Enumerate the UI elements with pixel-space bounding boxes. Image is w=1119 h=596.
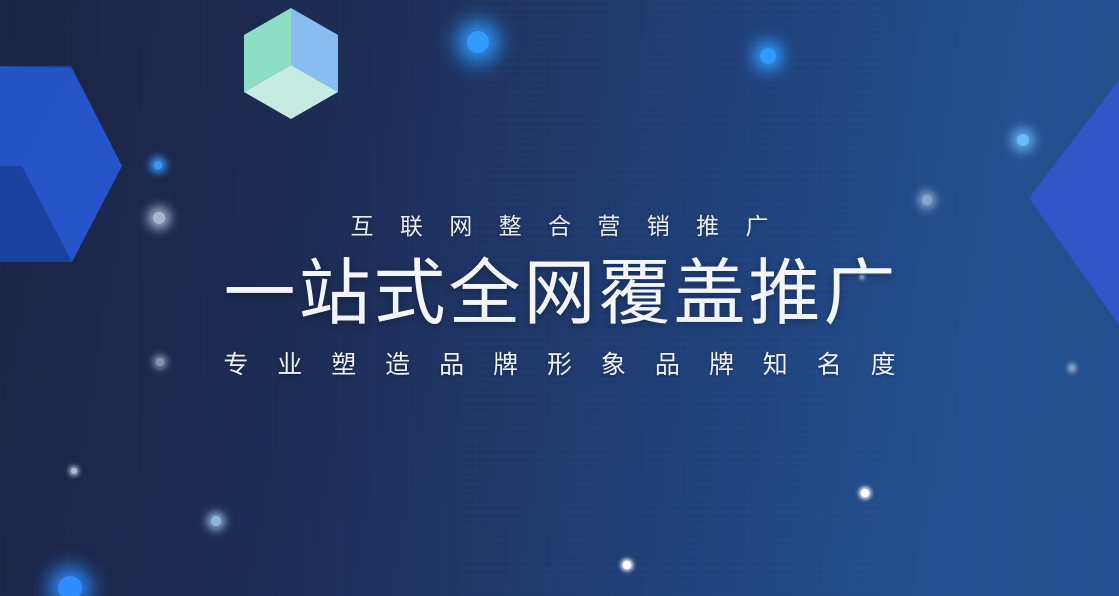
glow-dot (1017, 134, 1029, 146)
glow-dot (467, 31, 489, 53)
glow-dot (154, 161, 162, 169)
glow-dot (71, 468, 77, 474)
glow-dot (760, 48, 776, 64)
glow-dot (211, 516, 221, 526)
banner-text-block: 互 联 网 整 合 营 销 推 广 一站式全网覆盖推广 专 业 塑 造 品 牌 … (0, 212, 1119, 381)
hero-banner: 互 联 网 整 合 营 销 推 广 一站式全网覆盖推广 专 业 塑 造 品 牌 … (0, 0, 1119, 596)
left-hexagon-upper-face (0, 66, 72, 166)
banner-subline-text: 专 业 塑 造 品 牌 形 象 品 牌 知 名 度 (0, 349, 1119, 382)
glow-dot (861, 489, 869, 497)
isometric-cube-logo-icon (240, 4, 342, 122)
banner-eyebrow-text: 互 联 网 整 合 营 销 推 广 (0, 212, 1119, 242)
glow-dot (922, 195, 932, 205)
glow-dot (623, 561, 631, 569)
glow-dot (58, 576, 82, 596)
banner-headline-text: 一站式全网覆盖推广 (0, 254, 1119, 335)
